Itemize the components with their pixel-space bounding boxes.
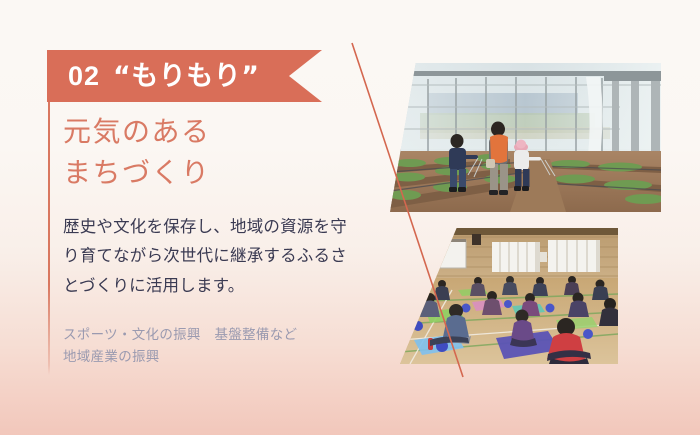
page-title: 元気のある まちづくり [63, 112, 211, 193]
section-keyword: “もりもり” [113, 63, 260, 90]
section-ribbon-banner: 02 “もりもり” [47, 50, 322, 102]
body-paragraph: 歴史や文化を保存し、地域の資源を守り育てながら次世代に継承するふるさとづくりに活… [63, 212, 363, 300]
section-number: 02 [68, 63, 100, 90]
text-column: 02 “もりもり” 元気のある まちづくり 歴史や文化を保存し、地域の資源を守り… [0, 0, 360, 435]
greenhouse-watering-photo [390, 63, 661, 212]
gymnasium-yoga-illustration [400, 228, 618, 364]
gymnasium-yoga-class-photo [400, 228, 618, 364]
greenhouse-watering-illustration [390, 63, 661, 212]
footnote-text: スポーツ・文化の振興 基盤整備など 地域産業の振興 [63, 325, 363, 369]
slide-canvas: 02 “もりもり” 元気のある まちづくり 歴史や文化を保存し、地域の資源を守り… [0, 0, 700, 435]
